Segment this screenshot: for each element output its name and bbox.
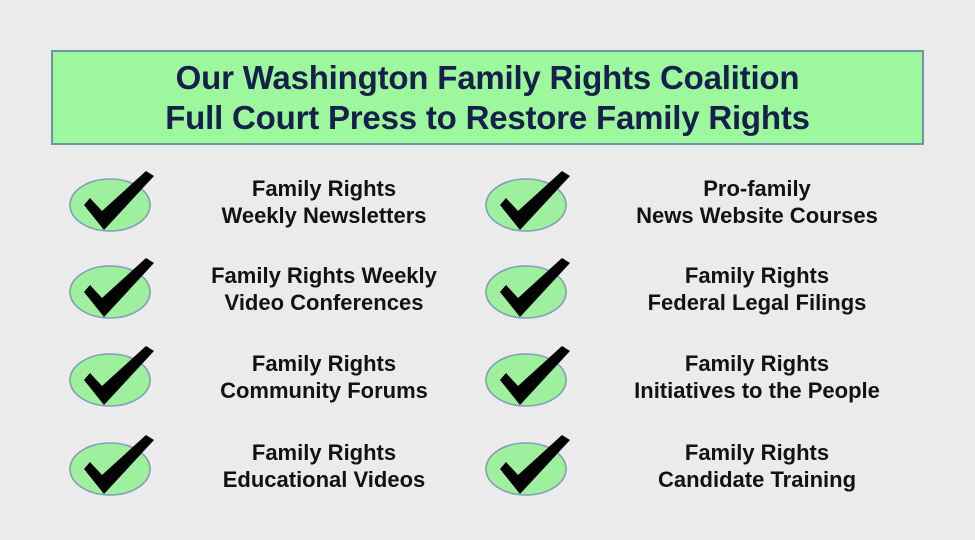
slide-canvas: Our Washington Family Rights Coalition F… <box>0 0 975 540</box>
list-item-label: Family Rights Federal Legal Filings <box>584 262 940 316</box>
checklist-column-right: Pro-family News Website Courses Family R… <box>470 158 940 518</box>
list-item-label-line2: Video Conferences <box>168 289 480 316</box>
list-item[interactable]: Family Rights Weekly Video Conferences <box>20 245 490 333</box>
list-item-label-line2: Community Forums <box>168 377 480 404</box>
list-item[interactable]: Family Rights Initiatives to the People <box>470 333 940 421</box>
list-item-label: Family Rights Weekly Video Conferences <box>168 262 490 316</box>
green-check-icon <box>482 254 578 324</box>
list-item-label-line1: Family Rights <box>168 175 480 202</box>
list-item-label: Family Rights Educational Videos <box>168 439 490 493</box>
checklist-column-left: Family Rights Weekly Newsletters Family … <box>20 158 490 518</box>
green-check-icon <box>66 254 162 324</box>
list-item-label-line1: Family Rights <box>584 350 930 377</box>
list-item[interactable]: Family Rights Federal Legal Filings <box>470 245 940 333</box>
list-item[interactable]: Pro-family News Website Courses <box>470 158 940 246</box>
green-check-icon <box>482 431 578 501</box>
green-check-icon <box>482 167 578 237</box>
green-check-icon <box>482 342 578 412</box>
title-line-2: Full Court Press to Restore Family Right… <box>165 98 810 138</box>
green-check-icon <box>66 342 162 412</box>
list-item-label-line1: Family Rights Weekly <box>168 262 480 289</box>
list-item-label-line2: Educational Videos <box>168 466 480 493</box>
list-item-label-line2: Federal Legal Filings <box>584 289 930 316</box>
list-item[interactable]: Family Rights Educational Videos <box>20 422 490 510</box>
list-item[interactable]: Family Rights Community Forums <box>20 333 490 421</box>
list-item-label-line2: Candidate Training <box>584 466 930 493</box>
green-check-icon <box>66 167 162 237</box>
list-item-label-line2: News Website Courses <box>584 202 930 229</box>
green-check-icon <box>66 431 162 501</box>
list-item-label-line1: Family Rights <box>584 439 930 466</box>
list-item[interactable]: Family Rights Candidate Training <box>470 422 940 510</box>
list-item-label-line1: Family Rights <box>168 439 480 466</box>
list-item-label: Family Rights Candidate Training <box>584 439 940 493</box>
list-item-label: Family Rights Weekly Newsletters <box>168 175 490 229</box>
list-item[interactable]: Family Rights Weekly Newsletters <box>20 158 490 246</box>
list-item-label: Family Rights Community Forums <box>168 350 490 404</box>
checklist-content: Family Rights Weekly Newsletters Family … <box>0 158 975 518</box>
list-item-label-line2: Initiatives to the People <box>584 377 930 404</box>
title-line-1: Our Washington Family Rights Coalition <box>176 58 800 98</box>
list-item-label-line1: Family Rights <box>584 262 930 289</box>
title-banner: Our Washington Family Rights Coalition F… <box>51 50 924 145</box>
list-item-label-line2: Weekly Newsletters <box>168 202 480 229</box>
list-item-label: Pro-family News Website Courses <box>584 175 940 229</box>
list-item-label: Family Rights Initiatives to the People <box>584 350 940 404</box>
list-item-label-line1: Pro-family <box>584 175 930 202</box>
list-item-label-line1: Family Rights <box>168 350 480 377</box>
